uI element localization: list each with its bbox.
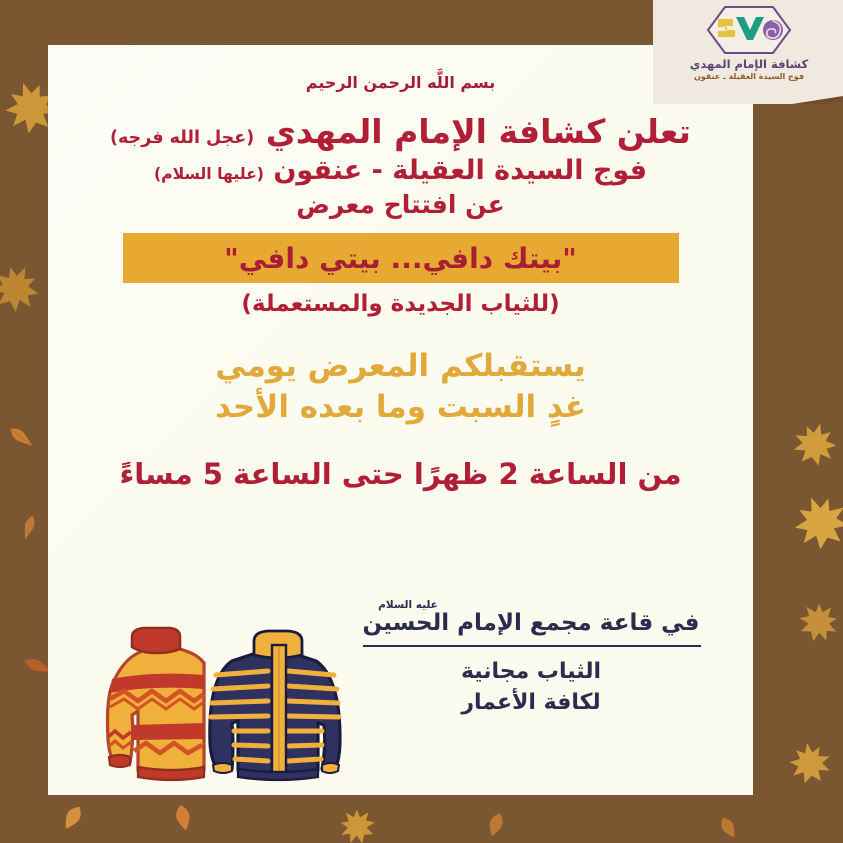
announcement-card: بسم اللَّه الرحمن الرحيم تعلن كشافة الإم… — [48, 45, 753, 795]
maple-leaf-icon — [157, 796, 209, 839]
logo-title: كشافة الإمام المهدي — [663, 57, 835, 71]
maple-leaf-icon — [704, 805, 752, 843]
free-clothes-line-1: الثياب مجانية — [331, 659, 731, 684]
opening-hours: من الساعة 2 ظهرًا حتى الساعة 5 مساءً — [76, 457, 725, 491]
footer-zone: عليه السلام في قاعة مجمع الإمام الحسين ا… — [48, 605, 753, 795]
clothes-svg — [82, 619, 342, 789]
maple-leaf-icon — [10, 508, 48, 546]
exhibition-title: "بيتك دافي... بيتي دافي" — [224, 242, 577, 275]
maple-leaf-icon — [472, 802, 521, 843]
headline-line-2-main: فوج السيدة العقيلة - عنقون — [273, 155, 647, 186]
maple-leaf-icon — [0, 413, 45, 461]
headline-line-2-parenthetical: (عليها السلام) — [154, 164, 264, 183]
headline-line-2: فوج السيدة العقيلة - عنقون (عليها السلام… — [76, 156, 725, 186]
venue-text: في قاعة مجمع الإمام الحسين — [331, 610, 731, 636]
maple-leaf-icon — [784, 737, 836, 789]
headline-line-1-parenthetical: (عجل الله فرجه) — [110, 128, 254, 148]
logo-subtitle: فوج السيدة العقيلة ـ عنقون — [663, 72, 835, 81]
headline-line-1: تعلن كشافة الإمام المهدي (عجل الله فرجه) — [76, 114, 725, 151]
schedule-line-2: غدٍ السبت وما بعده الأحد — [76, 388, 725, 427]
free-clothes-line-2: لكافة الأعمار — [331, 690, 731, 715]
maple-leaf-icon — [786, 415, 843, 473]
gold-turtleneck-sweater — [108, 628, 205, 780]
scout-hexagon-emblem-icon — [705, 4, 793, 56]
organization-logo-badge: كشافة الإمام المهدي فوج السيدة العقيلة ـ… — [653, 0, 843, 104]
navy-striped-puffer-jacket — [210, 631, 340, 780]
winter-clothes-illustration — [82, 619, 342, 789]
headline-line-3: عن افتتاح معرض — [76, 191, 725, 219]
venue-block: عليه السلام في قاعة مجمع الإمام الحسين ا… — [331, 599, 731, 715]
maple-leaf-icon — [788, 591, 843, 653]
exhibition-title-banner: "بيتك دافي... بيتي دافي" — [123, 233, 679, 283]
exhibition-subnote: (للثياب الجديدة والمستعملة) — [76, 291, 725, 317]
maple-leaf-icon — [782, 483, 843, 561]
headline-line-1-main: تعلن كشافة الإمام المهدي — [266, 112, 691, 151]
divider-rule — [363, 645, 701, 647]
maple-leaf-icon — [46, 791, 100, 842]
maple-leaf-icon — [0, 254, 50, 323]
maple-leaf-icon — [323, 793, 390, 843]
poster-canvas: كشافة الإمام المهدي فوج السيدة العقيلة ـ… — [0, 0, 843, 843]
bismillah-text: بسم اللَّه الرحمن الرحيم — [76, 73, 725, 92]
schedule-line-1: يستقبلكم المعرض يومي — [76, 347, 725, 386]
